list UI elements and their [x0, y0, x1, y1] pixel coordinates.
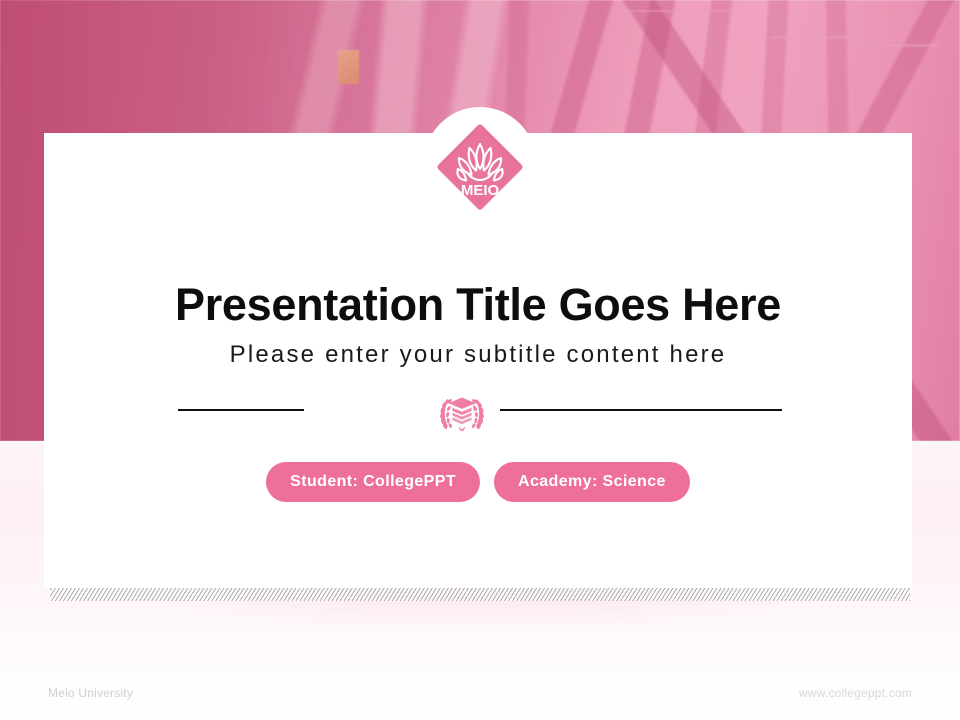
- graduation-cap-laurel-emblem: [434, 388, 490, 436]
- academy-pill[interactable]: Academy: Science: [494, 462, 690, 502]
- background-sign-detail: [338, 50, 359, 84]
- background-rail-detail: [770, 36, 862, 39]
- logo-wordmark: MEIO: [461, 182, 500, 199]
- background-rail-detail: [610, 10, 730, 12]
- student-pill[interactable]: Student: CollegePPT: [266, 462, 480, 502]
- info-pills: Student: CollegePPT Academy: Science: [44, 462, 912, 502]
- footer-university-name: Meio University: [48, 686, 133, 700]
- page-subtitle: Please enter your subtitle content here: [44, 339, 912, 371]
- divider: [44, 388, 912, 440]
- divider-rule-right: [500, 409, 782, 411]
- presentation-slide: MEIO Presentation Title Goes Here Please…: [0, 0, 960, 720]
- hatched-band: [50, 588, 910, 601]
- background-rail-detail: [862, 44, 940, 47]
- divider-rule-left: [178, 409, 304, 411]
- page-title: Presentation Title Goes Here: [44, 276, 912, 334]
- footer-website-url[interactable]: www.collegeppt.com: [799, 686, 912, 700]
- meio-university-diamond-logo: MEIO: [432, 119, 528, 215]
